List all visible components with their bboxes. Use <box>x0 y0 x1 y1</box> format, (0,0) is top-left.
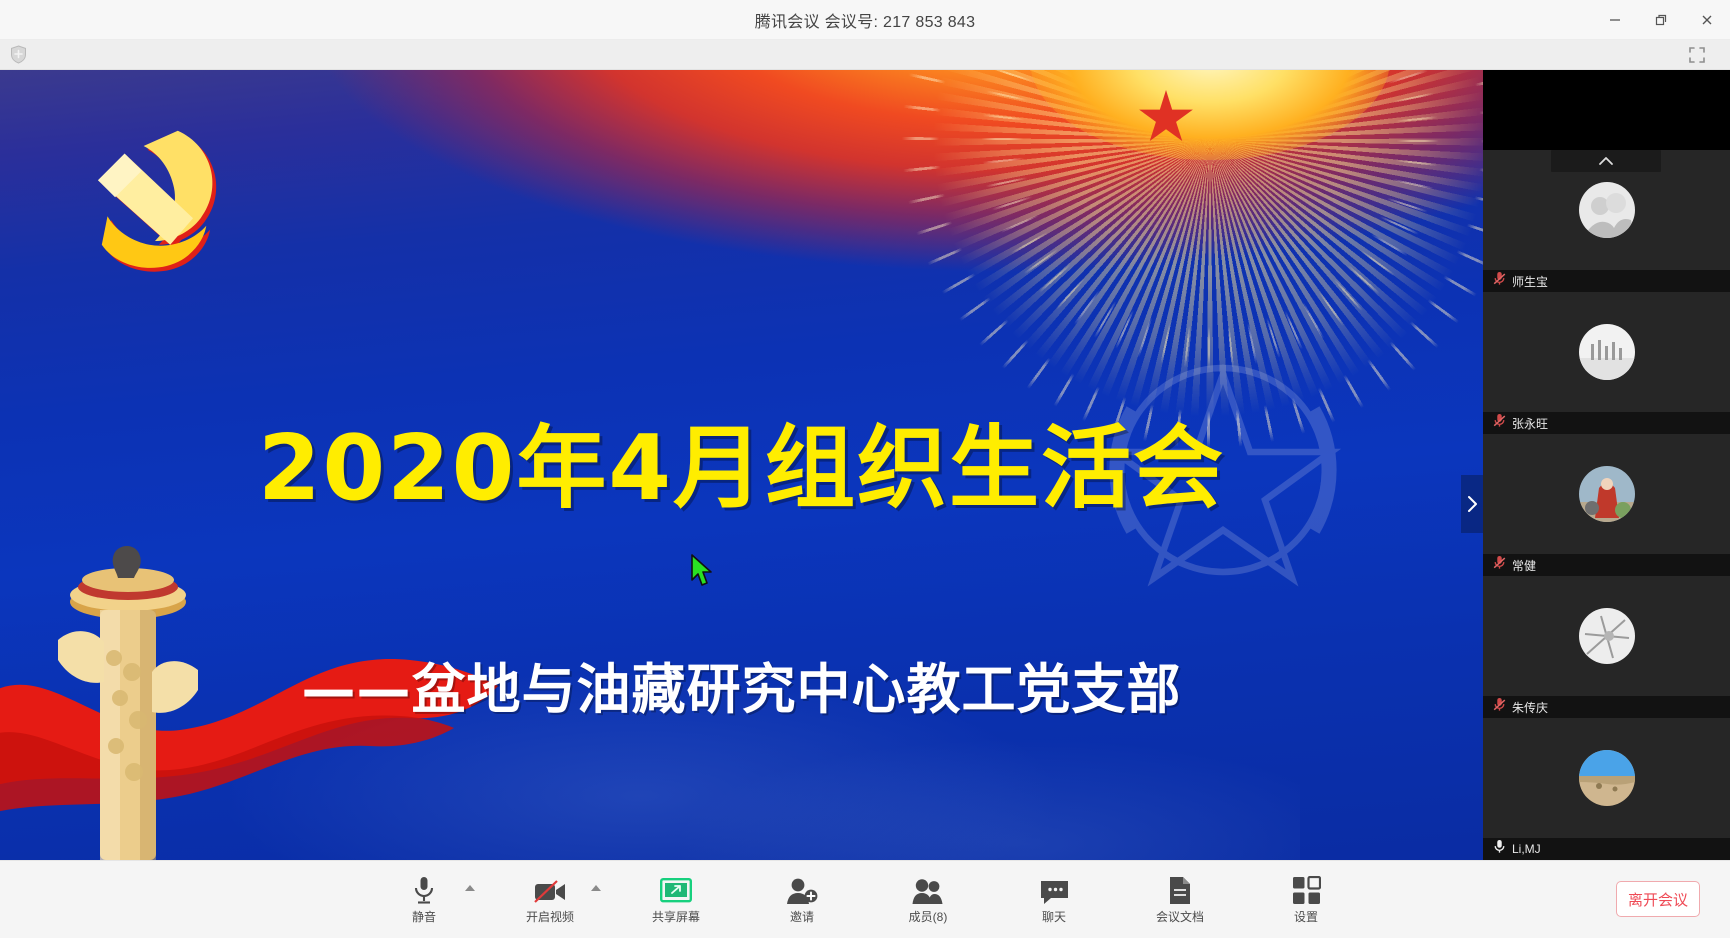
toolbar-item-label: 邀请 <box>790 908 814 925</box>
slide-date: 2020年4月2日 <box>0 850 1483 860</box>
toolbar-item-label: 成员(8) <box>909 908 948 925</box>
toolbar-buttons: 静音 开启视频 共享屏幕 邀请 成员(8) 聊天 会议文档 设置 <box>0 861 1730 938</box>
participant-name: 张永旺 <box>1512 415 1548 432</box>
toolbar-item-share-screen[interactable]: 共享屏幕 <box>633 869 719 931</box>
avatar <box>1579 182 1635 238</box>
camera-off-icon <box>533 869 567 905</box>
caret-up-icon[interactable] <box>591 885 601 891</box>
microphone-muted-icon <box>1493 697 1506 717</box>
microphone-icon <box>1493 839 1506 859</box>
shield-icon[interactable] <box>4 44 32 66</box>
toolbar-item-label: 设置 <box>1294 908 1318 925</box>
participant-tile[interactable] <box>1483 434 1730 554</box>
toolbar-item-label: 共享屏幕 <box>652 908 700 925</box>
meeting-stage: 2020年4月组织生活会 ——盆地与油藏研究中心教工党支部 2020年4月2日 <box>0 70 1730 860</box>
toolbar-item-participants[interactable]: 成员(8) <box>885 869 971 931</box>
restore-button[interactable] <box>1638 0 1684 40</box>
window-title: 腾讯会议 会议号: 217 853 843 <box>755 8 976 32</box>
toolbar-item-label: 会议文档 <box>1156 908 1204 925</box>
invite-user-icon <box>786 869 818 905</box>
toolbar-item-label: 静音 <box>412 908 436 925</box>
participant-tile[interactable] <box>1483 576 1730 696</box>
meeting-toolbar: 静音 开启视频 共享屏幕 邀请 成员(8) 聊天 会议文档 设置 离开会议 <box>0 860 1730 938</box>
participant-name-bar: 张永旺 <box>1483 412 1730 434</box>
participant-name: 朱传庆 <box>1512 699 1548 716</box>
slide-subtitle: ——盆地与油藏研究中心教工党支部 <box>0 645 1483 724</box>
rail-top-spacer <box>1483 70 1730 150</box>
collapse-panel-button[interactable] <box>1461 475 1483 533</box>
leave-meeting-label: 离开会议 <box>1628 889 1688 910</box>
participant-tile[interactable] <box>1483 292 1730 412</box>
microphone-icon <box>411 869 437 905</box>
participant-tile-list: 师生宝 张永旺 常健 <box>1483 70 1730 860</box>
toolbar-item-settings-grid[interactable]: 设置 <box>1263 869 1349 931</box>
participant-name: Li,MJ <box>1512 842 1541 856</box>
annotation-cursor-icon <box>690 554 716 588</box>
fullscreen-icon[interactable] <box>1686 44 1708 66</box>
toolbar-item-label: 聊天 <box>1042 908 1066 925</box>
toolbar-item-camera-off[interactable]: 开启视频 <box>507 869 593 931</box>
participant-name: 常健 <box>1512 557 1536 574</box>
tencent-meeting-window: 腾讯会议 会议号: 217 853 843 <box>0 0 1730 938</box>
participant-name-bar: 师生宝 <box>1483 270 1730 292</box>
avatar <box>1579 466 1635 522</box>
toolbar-item-microphone[interactable]: 静音 <box>381 869 467 931</box>
toolbar-item-chat[interactable]: 聊天 <box>1011 869 1097 931</box>
microphone-muted-icon <box>1493 271 1506 291</box>
participants-icon <box>912 869 944 905</box>
microphone-muted-icon <box>1493 413 1506 433</box>
microphone-muted-icon <box>1493 555 1506 575</box>
window-controls <box>1592 0 1730 40</box>
avatar <box>1579 608 1635 664</box>
participant-tile[interactable] <box>1483 718 1730 838</box>
participant-name-bar: 朱传庆 <box>1483 696 1730 718</box>
avatar <box>1579 750 1635 806</box>
chat-icon <box>1039 869 1070 905</box>
slide-title: 2020年4月组织生活会 <box>0 395 1483 525</box>
participant-name-bar: 常健 <box>1483 554 1730 576</box>
participant-name-bar: Li,MJ <box>1483 838 1730 860</box>
share-screen-icon <box>660 869 692 905</box>
participant-name: 师生宝 <box>1512 273 1548 290</box>
minimize-button[interactable] <box>1592 0 1638 40</box>
close-button[interactable] <box>1684 0 1730 40</box>
shared-screen-slide[interactable]: 2020年4月组织生活会 ——盆地与油藏研究中心教工党支部 2020年4月2日 <box>0 70 1483 860</box>
toolbar-item-label: 开启视频 <box>526 908 574 925</box>
settings-grid-icon <box>1292 869 1321 905</box>
leave-meeting-button[interactable]: 离开会议 <box>1616 881 1700 917</box>
participants-rail: 师生宝 张永旺 常健 <box>1483 70 1730 860</box>
party-emblem-icon <box>60 108 250 298</box>
caret-up-icon[interactable] <box>465 885 475 891</box>
toolbar-item-document[interactable]: 会议文档 <box>1137 869 1223 931</box>
title-bar: 腾讯会议 会议号: 217 853 843 <box>0 0 1730 40</box>
avatar <box>1579 324 1635 380</box>
document-icon <box>1168 869 1192 905</box>
scroll-up-button[interactable] <box>1551 150 1661 172</box>
toolbar-item-invite-user[interactable]: 邀请 <box>759 869 845 931</box>
secondary-toolbar <box>0 40 1730 70</box>
